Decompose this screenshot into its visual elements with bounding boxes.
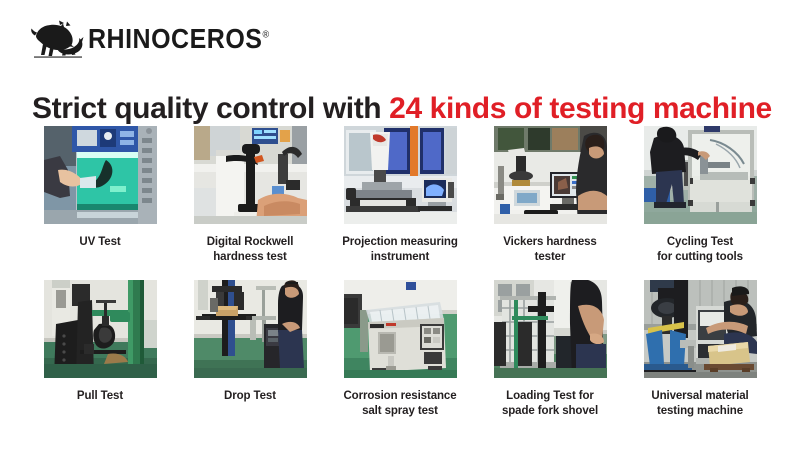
gallery-item[interactable]: Digital Rockwellhardness test: [179, 126, 321, 264]
pull-test-rig-photo: [44, 280, 157, 378]
gallery-item-caption: Drop Test: [187, 389, 313, 404]
brand-name-text: RHINOCEROS: [88, 23, 262, 54]
gallery-item-caption: Loading Test forspade fork shovel: [487, 389, 613, 418]
loading-test-rack-photo: [494, 280, 607, 378]
thumbnail-wrap: [179, 126, 321, 224]
gallery-item[interactable]: Vickers hardnesstester: [479, 126, 621, 264]
universal-material-testing-machine-photo: [644, 280, 757, 378]
gallery-item[interactable]: UV Test: [29, 126, 171, 264]
thumbnail-wrap: [629, 126, 771, 224]
thumbnail-wrap: [29, 280, 171, 378]
testing-machine-gallery: UV Test: [29, 126, 771, 419]
digital-rockwell-hardness-tester-photo: [194, 126, 307, 224]
gallery-item-caption: Projection measuringinstrument: [337, 235, 463, 264]
brand-wordmark: RHINOCEROS®: [88, 25, 270, 53]
gallery-item[interactable]: Loading Test forspade fork shovel: [479, 264, 621, 418]
page-title-accent: 24 kinds of testing machine: [389, 92, 772, 125]
drop-test-tower-photo: [194, 280, 307, 378]
thumbnail-wrap: [29, 126, 171, 224]
gallery-item[interactable]: Universal materialtesting machine: [629, 264, 771, 418]
thumbnail-wrap: [629, 280, 771, 378]
uv-test-chamber-photo: [44, 126, 157, 224]
gallery-item[interactable]: Pull Test: [29, 264, 171, 418]
page-title: Strict quality control with 24 kinds of …: [32, 92, 772, 126]
cycling-test-machine-photo: [644, 126, 757, 224]
page-title-lead: Strict quality control with: [32, 92, 389, 125]
gallery-item-caption: UV Test: [37, 235, 163, 250]
gallery-item-caption: Digital Rockwellhardness test: [187, 235, 313, 264]
gallery-item[interactable]: Projection measuringinstrument: [329, 126, 471, 264]
gallery-item-caption: Pull Test: [37, 389, 163, 404]
rhinoceros-logo-icon: [30, 19, 84, 59]
thumbnail-wrap: [329, 126, 471, 224]
thumbnail-wrap: [479, 280, 621, 378]
registered-mark: ®: [262, 28, 269, 39]
gallery-item[interactable]: Corrosion resistancesalt spray test: [329, 264, 471, 418]
salt-spray-chamber-photo: [344, 280, 457, 378]
brand-logo: RHINOCEROS®: [30, 18, 270, 60]
vickers-hardness-tester-photo: [494, 126, 607, 224]
gallery-item-caption: Corrosion resistancesalt spray test: [337, 389, 463, 418]
gallery-item[interactable]: Cycling Testfor cutting tools: [629, 126, 771, 264]
thumbnail-wrap: [479, 126, 621, 224]
projection-measuring-instrument-photo: [344, 126, 457, 224]
gallery-item-caption: Vickers hardnesstester: [487, 235, 613, 264]
thumbnail-wrap: [329, 280, 471, 378]
gallery-item-caption: Cycling Testfor cutting tools: [637, 235, 763, 264]
gallery-item[interactable]: Drop Test: [179, 264, 321, 418]
gallery-item-caption: Universal materialtesting machine: [637, 389, 763, 418]
thumbnail-wrap: [179, 280, 321, 378]
